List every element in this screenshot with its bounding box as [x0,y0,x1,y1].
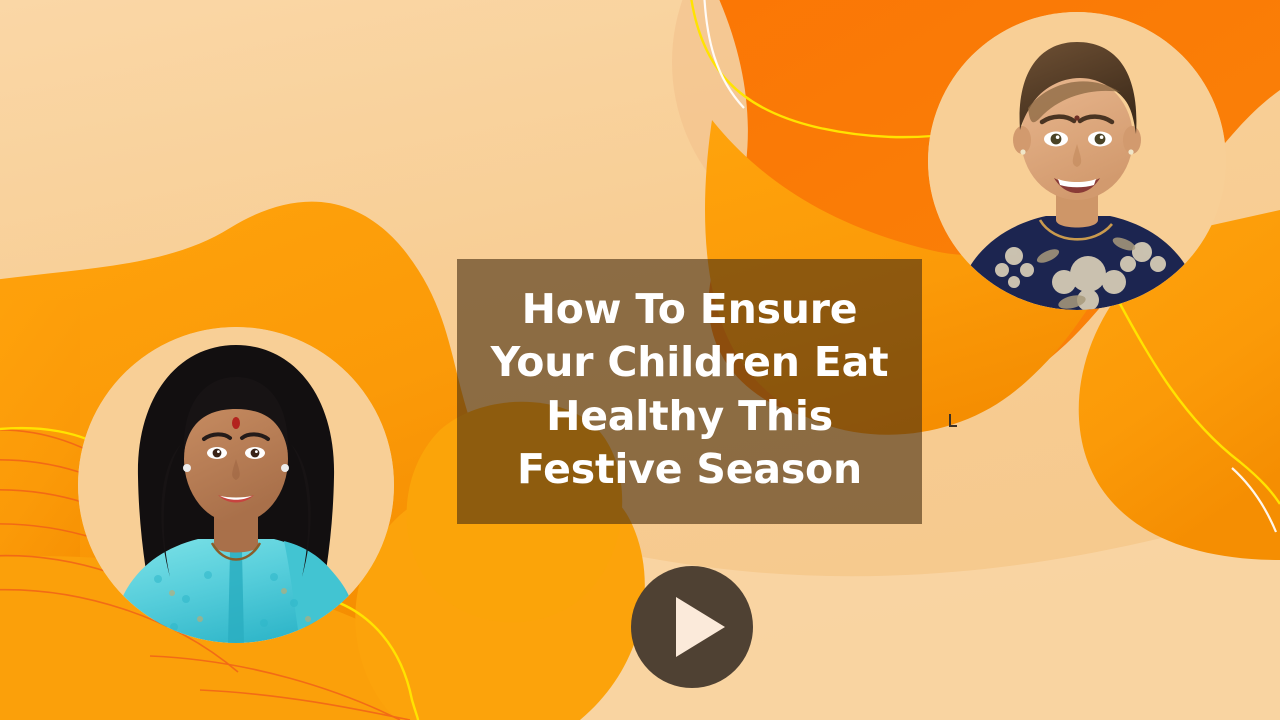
bindi [1074,115,1079,120]
earring-left [183,464,191,472]
presenter-photo-woman [78,327,394,643]
kurta-placket [228,551,244,643]
play-icon [676,597,725,657]
child-portrait-illustration [928,12,1226,310]
cursor-mark [949,414,957,427]
earring-left [1020,149,1025,154]
play-button[interactable] [631,566,753,688]
woman-portrait-illustration [78,327,394,643]
video-thumbnail-slide: How To Ensure Your Children Eat Healthy … [0,0,1280,720]
child-photo [928,12,1226,310]
title-card: How To Ensure Your Children Eat Healthy … [457,259,922,524]
earring-right [281,464,289,472]
earring-right [1128,149,1133,154]
page-title: How To Ensure Your Children Eat Healthy … [491,283,889,496]
bindi [232,417,240,429]
